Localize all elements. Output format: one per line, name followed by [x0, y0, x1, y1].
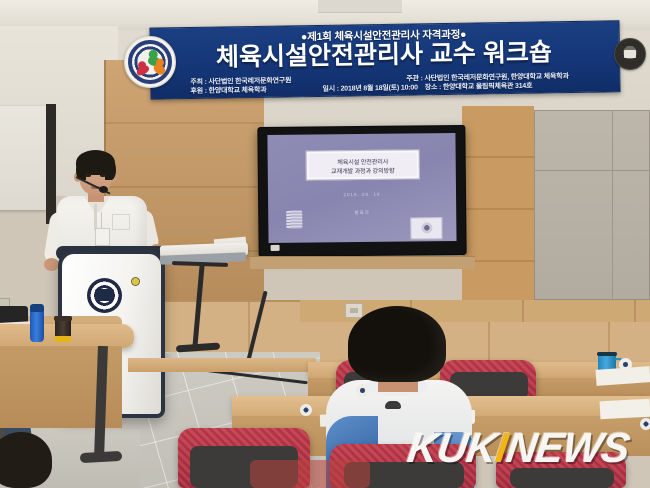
- podium-indicator-light: [131, 277, 140, 286]
- ceiling-vent: [318, 0, 402, 13]
- university-seal-icon: [614, 38, 646, 70]
- desk-row-back: [128, 358, 316, 372]
- speaker-name-badge: [95, 228, 110, 246]
- event-banner: ●제1회 체육시설안전관리사 자격과정● 체육시설안전관리사 교수 워크숍 주최…: [149, 20, 618, 97]
- acoustic-panel-seam-horizontal: [534, 170, 650, 171]
- photo-scene: ●제1회 체육시설안전관리사 자격과정● 체육시설안전관리사 교수 워크숍 주최…: [0, 0, 650, 488]
- wall-display: 체육시설 안전관리사 교재개발 과정과 강의방향 2018. 08. 18 발표…: [257, 125, 466, 257]
- acoustic-panel-seam-vertical: [612, 110, 613, 300]
- microphone-head-icon: [99, 186, 108, 193]
- seal-center-mark: [624, 50, 636, 58]
- slide-presenter: 발표자: [312, 209, 412, 216]
- speaker-shirt-pocket: [112, 214, 130, 230]
- floor-mat: [250, 460, 370, 488]
- banner-venue: 장소 : 한양대학교 올림픽체육관 314호: [425, 83, 533, 92]
- speaker-hair-side-right: [105, 158, 116, 180]
- shirt-logo-mark-icon: [385, 401, 401, 409]
- blue-mug-rim: [597, 352, 617, 356]
- water-bottle: [30, 310, 44, 342]
- speaker-hand-left: [44, 258, 59, 271]
- coffee-cup-base: [55, 336, 71, 342]
- speaker-eye-left: [85, 174, 91, 177]
- kukinews-watermark: KUKINEWS: [405, 424, 650, 472]
- slide-date: 2018. 08. 18: [312, 191, 412, 197]
- wall-outlet: [345, 303, 363, 318]
- watermark-part-1: KUK: [405, 424, 500, 471]
- water-bottle-cap: [30, 304, 44, 312]
- coffee-cup-lid: [54, 316, 72, 321]
- slide-logo-left-icon: [286, 211, 302, 229]
- podium-seal-icon: [87, 278, 122, 313]
- attendee-head: [348, 306, 446, 382]
- speaker-shirt-placket: [94, 204, 97, 230]
- door-gap: [46, 104, 56, 224]
- desk-knob-behind-attendee: [356, 384, 369, 397]
- acoustic-panel: [534, 110, 650, 300]
- presentation-slide: 체육시설 안전관리사 교재개발 과정과 강의방향 2018. 08. 18 발표…: [267, 133, 456, 243]
- banner-datetime: 일시 : 2018년 8월 18일(토) 10:00: [322, 84, 417, 92]
- slide-title-box: 체육시설 안전관리사 교재개발 과정과 강의방향: [306, 149, 420, 180]
- speaker-eye-right: [100, 174, 106, 177]
- watermark-part-2: NEWS: [503, 424, 632, 471]
- banner-sponsor: 후원 : 한양대학교 체육학과: [190, 85, 266, 96]
- display-shelf: [250, 256, 475, 269]
- papers-right-lower: [600, 399, 650, 420]
- slide-title-line-2: 교재개발 과정과 강의방향: [307, 165, 419, 175]
- desk-knob-left: [300, 404, 312, 416]
- display-power-indicator: [271, 245, 280, 251]
- podium-seal-center: [95, 289, 114, 301]
- slide-logo-right-icon: [410, 217, 442, 239]
- coffee-cup: [55, 318, 71, 338]
